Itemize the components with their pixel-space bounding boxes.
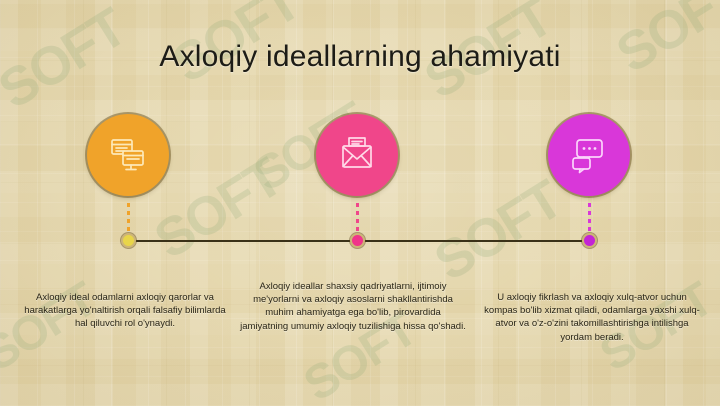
slide-canvas: SOFT SOFT SOFT SOFT SOFT SOFT SOFT SOFT … — [0, 0, 720, 406]
timeline-node-1[interactable] — [87, 114, 169, 196]
connector-stem-1 — [127, 203, 130, 233]
connector-stem-2 — [356, 203, 359, 233]
timeline-pin-1[interactable] — [121, 233, 136, 248]
monitor-documents-icon — [107, 134, 149, 176]
page-title: Axloqiy ideallarning ahamiyati — [0, 40, 720, 74]
caption-text-1: Axloqiy ideal odamlarni axloqiy qarorlar… — [18, 291, 232, 331]
timeline-pin-2[interactable] — [350, 233, 365, 248]
caption-text-2: Axloqiy ideallar shaxsiy qadriyatlarni, … — [240, 280, 466, 333]
chat-bubbles-icon — [568, 134, 610, 176]
connector-stem-3 — [588, 203, 591, 233]
timeline-node-2[interactable] — [316, 114, 398, 196]
caption-text-3: U axloqiy fikrlash va axloqiy xulq-atvor… — [480, 291, 704, 344]
timeline-node-3[interactable] — [548, 114, 630, 196]
timeline-pin-3[interactable] — [582, 233, 597, 248]
envelope-mail-icon — [336, 134, 378, 176]
watermark-text: SOFT — [424, 169, 572, 294]
